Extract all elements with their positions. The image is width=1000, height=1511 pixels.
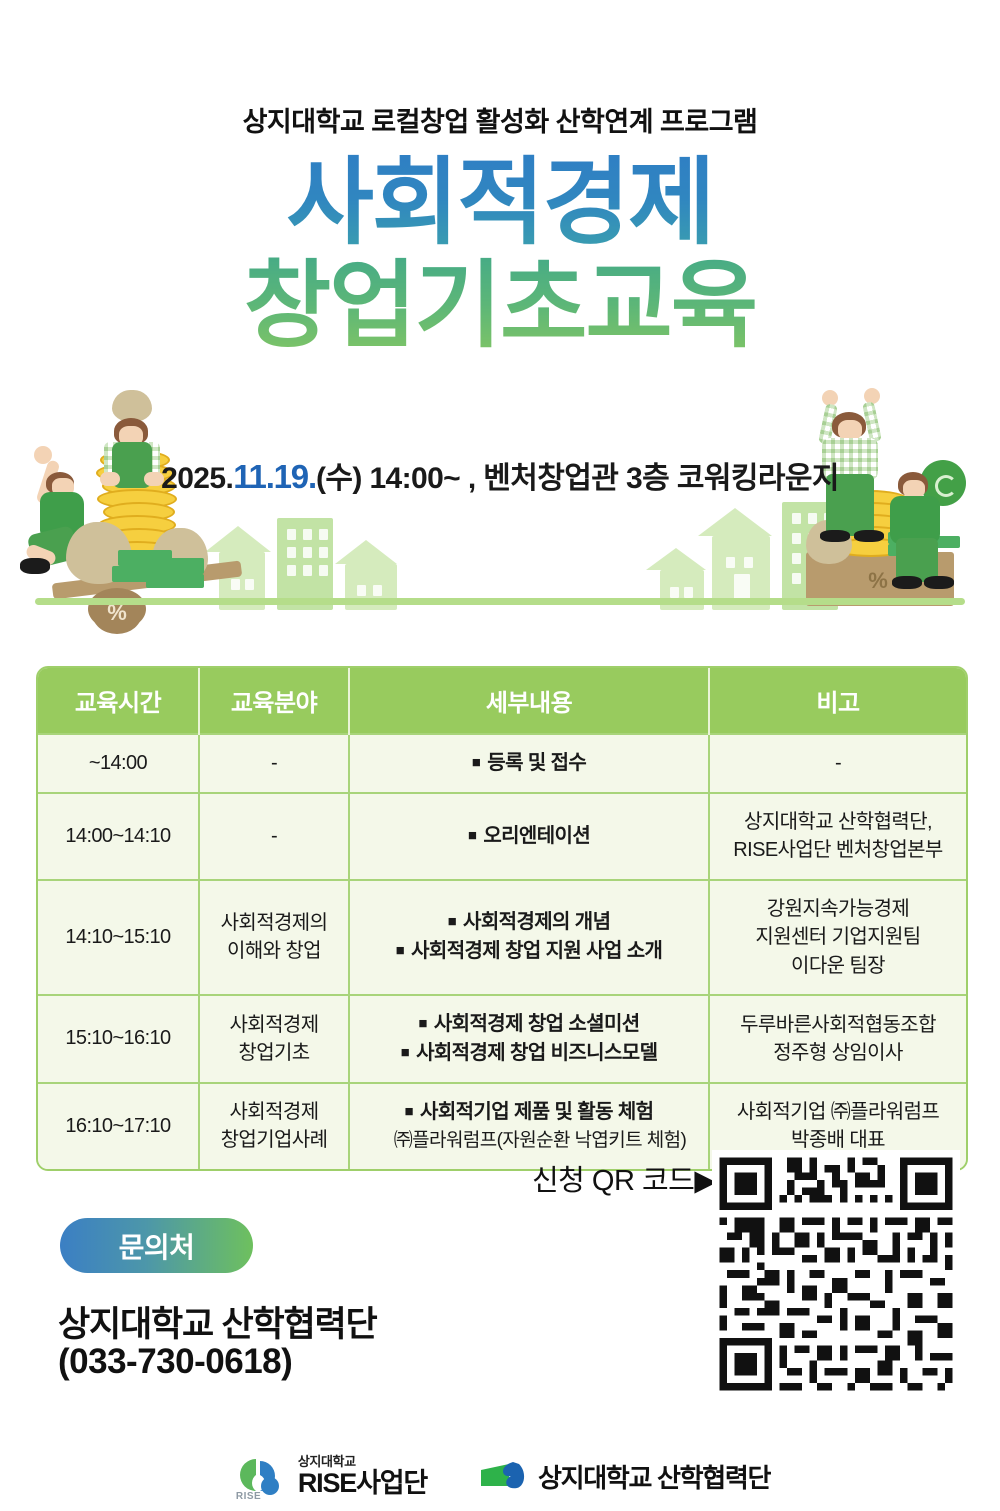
date-suffix: (수) 14:00~ , 벤처창업관 3층 코워킹라운지 [316, 462, 839, 495]
bullet-icon: ■ [448, 913, 456, 930]
qr-code-image [712, 1150, 960, 1398]
qr-label: 신청 QR 코드▶ [532, 1157, 716, 1199]
rise-logo-subtitle: 상지대학교 [298, 1455, 427, 1469]
title-line-2: 창업기초교육 [0, 255, 1000, 358]
column-header-note: 비고 [709, 668, 966, 734]
cell-note: 두루바른사회적협동조합 정주형 상임이사 [709, 995, 966, 1083]
table-row: 14:10~15:10 사회적경제의 이해와 창업 ■사회적경제의 개념 ■사회… [38, 880, 966, 995]
date-venue-line: 2025.11.19.(수) 14:00~ , 벤처창업관 3층 코워킹라운지 [0, 453, 1000, 497]
bullet-icon: ■ [472, 754, 480, 771]
table-row: 14:00~14:10 - ■오리엔테이션 상지대학교 산학협력단, RISE사… [38, 793, 966, 880]
bullet-icon: ■ [468, 827, 476, 844]
rise-mark-word: RISE [236, 1491, 261, 1502]
contact-phone[interactable]: (033-730-0618) [58, 1342, 292, 1382]
cell-time: ~14:00 [38, 734, 199, 793]
cell-time: 15:10~16:10 [38, 995, 199, 1083]
bullet-icon: ■ [405, 1103, 413, 1120]
poster-root: 상지대학교 로컬창업 활성화 산학연계 프로그램 사회적경제 창업기초교육 [0, 0, 1000, 1511]
poster-title: 사회적경제 창업기초교육 [0, 152, 1000, 357]
cell-detail: ■사회적경제의 개념 ■사회적경제 창업 지원 사업 소개 [349, 880, 709, 995]
column-header-field: 교육분야 [199, 668, 349, 734]
cell-note: 강원지속가능경제 지원센터 기업지원팀 이다운 팀장 [709, 880, 966, 995]
cell-field: 사회적경제의 이해와 창업 [199, 880, 349, 995]
cell-field: 사회적경제 창업기초 [199, 995, 349, 1083]
logo-rise-project-group: RISE 상지대학교 RISE사업단 [230, 1453, 427, 1499]
schedule-table-wrapper: 교육시간 교육분야 세부내용 비고 ~14:00 - ■등록 및 접수 [36, 666, 968, 1171]
bullet-icon: ■ [401, 1044, 409, 1061]
rise-logo-title: RISE사업단 [298, 1469, 427, 1497]
cell-time: 14:00~14:10 [38, 793, 199, 880]
cell-detail: ■사회적기업 제품 및 활동 체험 ㈜플라워럼프(자원순환 낙엽키트 체험) [349, 1083, 709, 1169]
table-row: 15:10~16:10 사회적경제 창업기초 ■사회적경제 창업 소셜미션 ■사… [38, 995, 966, 1083]
bullet-icon: ■ [418, 1015, 426, 1032]
logo-iacf-group: 상지대학교 산학협력단 [479, 1458, 770, 1495]
iacf-logo-icon [479, 1460, 529, 1492]
cell-detail: ■등록 및 접수 [349, 734, 709, 793]
iacf-logo-title: 상지대학교 산학협력단 [538, 1458, 770, 1495]
cell-field: - [199, 793, 349, 880]
cell-note: 상지대학교 산학협력단, RISE사업단 벤처창업본부 [709, 793, 966, 880]
program-kicker: 상지대학교 로컬창업 활성화 산학연계 프로그램 [0, 100, 1000, 139]
cell-field: - [199, 734, 349, 793]
footer-logos: RISE 상지대학교 RISE사업단 상지대학교 산학협력단 [0, 1446, 1000, 1506]
table-row: ~14:00 - ■등록 및 접수 - [38, 734, 966, 793]
cell-detail: ■오리엔테이션 [349, 793, 709, 880]
ground-line [35, 598, 965, 605]
cell-field: 사회적경제 창업기업사례 [199, 1083, 349, 1169]
cell-detail: ■사회적경제 창업 소셜미션 ■사회적경제 창업 비즈니스모델 [349, 995, 709, 1083]
cell-note: - [709, 734, 966, 793]
cell-time: 14:10~15:10 [38, 880, 199, 995]
qr-code[interactable] [712, 1150, 960, 1398]
contact-organization: 상지대학교 산학협력단 [58, 1296, 377, 1347]
schedule-table: 교육시간 교육분야 세부내용 비고 ~14:00 - ■등록 및 접수 [38, 668, 966, 1169]
date-accent: 11.19. [233, 458, 316, 495]
title-line-1: 사회적경제 [0, 152, 1000, 255]
contact-badge: 문의처 [60, 1218, 253, 1273]
skyline-left [215, 490, 465, 610]
cell-time: 16:10~17:10 [38, 1083, 199, 1169]
table-header-row: 교육시간 교육분야 세부내용 비고 [38, 668, 966, 734]
date-prefix: 2025. [161, 462, 233, 495]
bullet-icon: ■ [396, 942, 404, 959]
column-header-time: 교육시간 [38, 668, 199, 734]
rise-logo-icon: RISE [230, 1453, 288, 1499]
column-header-detail: 세부내용 [349, 668, 709, 734]
